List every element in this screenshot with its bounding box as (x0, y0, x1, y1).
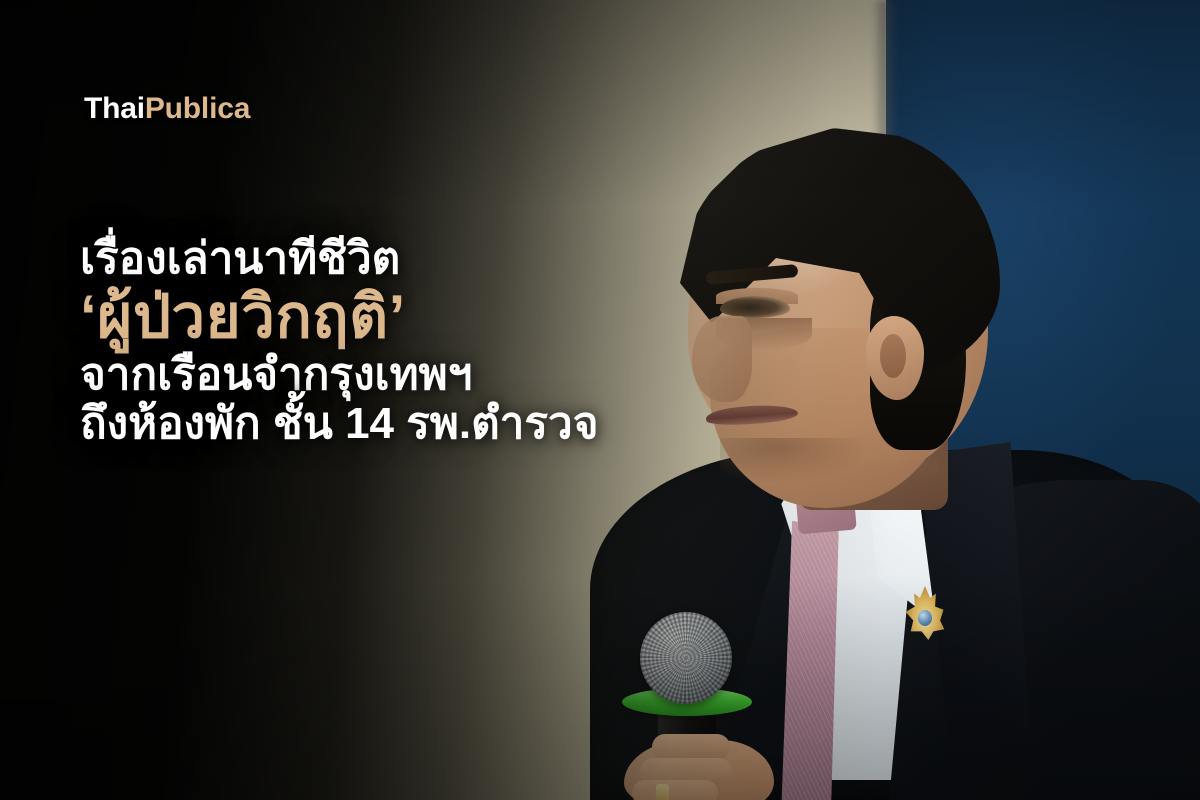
logo-text-thai: Thai (84, 92, 145, 125)
thaipublica-logo[interactable]: ThaiPublica (84, 94, 250, 124)
headline-block: เรื่องเล่านาทีชีวิต ‘ผู้ป่วยวิกฤติ’ จากเ… (80, 236, 720, 447)
headline-line-1: เรื่องเล่านาทีชีวิต (80, 236, 720, 283)
headline-line-4: ถึงห้องพัก ชั้น 14 รพ.ตำรวจ (80, 401, 720, 448)
headline-line-3: จากเรือนจำกรุงเทพฯ (80, 352, 720, 399)
article-cover-image: ThaiPublica เรื่องเล่านาทีชีวิต ‘ผู้ป่วย… (0, 0, 1200, 800)
headline-line-2-accent: ‘ผู้ป่วยวิกฤติ’ (80, 285, 720, 349)
logo-text-publica: Publica (145, 92, 250, 125)
